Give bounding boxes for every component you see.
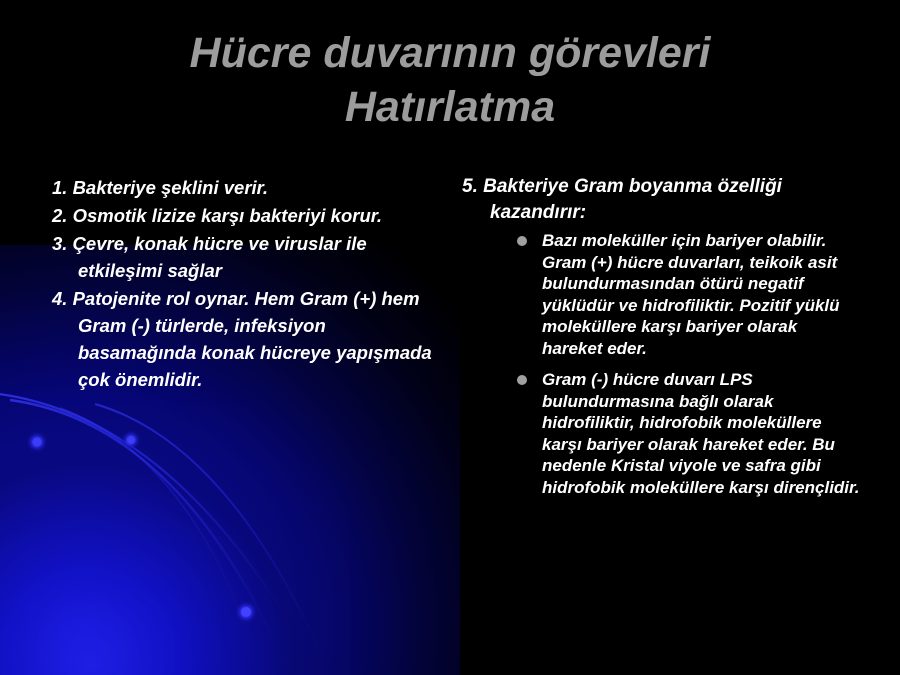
numbered-item-4: 4. Patojenite rol oynar. Hem Gram (+) he… bbox=[52, 285, 437, 393]
presentation-slide: Hücre duvarının görevleri Hatırlatma 1. … bbox=[0, 0, 900, 675]
bullet-dot-icon bbox=[517, 375, 527, 385]
slide-title: Hücre duvarının görevleri Hatırlatma bbox=[60, 26, 840, 134]
sub-bullet-item-1: Bazı moleküller için bariyer olabilir. G… bbox=[462, 230, 862, 359]
numbered-item-5-heading: 5. Bakteriye Gram boyanma özelliği kazan… bbox=[462, 174, 862, 226]
blue-glow-inner-shape bbox=[0, 405, 350, 675]
numbered-item-1: 1. Bakteriye şeklini verir. bbox=[52, 174, 437, 201]
sub-bullet-list: Bazı moleküller için bariyer olabilir. G… bbox=[462, 230, 862, 498]
sub-bullet-item-2: Gram (-) hücre duvarı LPS bulundurmasına… bbox=[462, 369, 862, 498]
numbered-item-3: 3. Çevre, konak hücre ve viruslar ile et… bbox=[52, 230, 437, 284]
sub-bullet-text-2: Gram (-) hücre duvarı LPS bulundurmasına… bbox=[542, 370, 859, 497]
numbered-item-2: 2. Osmotik lizize karşı bakteriyi korur. bbox=[52, 202, 437, 229]
slide-title-line-2: Hatırlatma bbox=[60, 80, 840, 134]
slide-title-line-1: Hücre duvarının görevleri bbox=[60, 26, 840, 80]
bullet-dot-icon bbox=[517, 236, 527, 246]
left-content-column: 1. Bakteriye şeklini verir. 2. Osmotik l… bbox=[52, 174, 437, 394]
sub-bullet-text-1: Bazı moleküller için bariyer olabilir. G… bbox=[542, 231, 840, 358]
right-content-column: 5. Bakteriye Gram boyanma özelliği kazan… bbox=[462, 174, 862, 508]
